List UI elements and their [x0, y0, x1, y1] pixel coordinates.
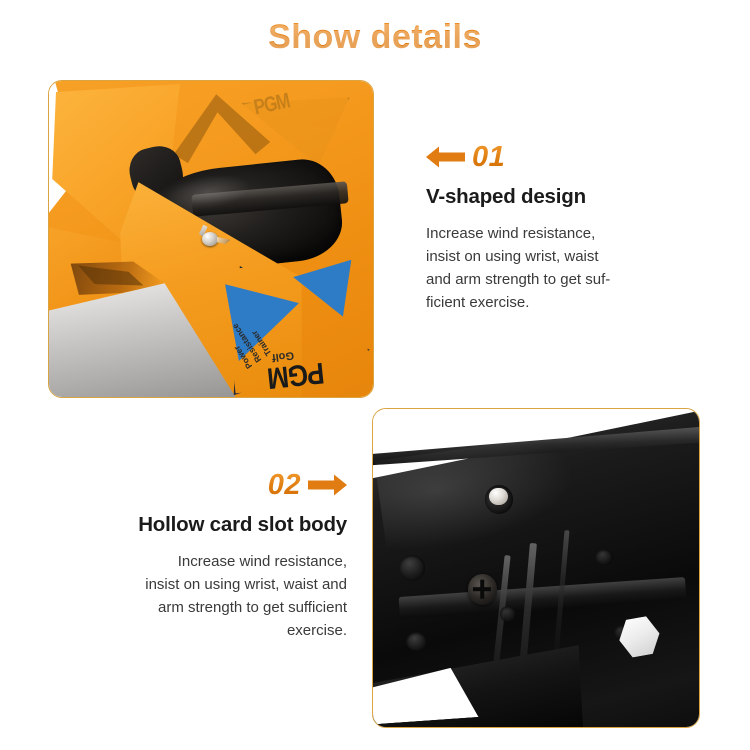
feature-01-body-line-1: Increase wind resistance, [426, 222, 656, 245]
feature-01-heading: V-shaped design [426, 185, 656, 210]
product-photo-v-shaped-design[interactable]: PGM Pow [48, 80, 374, 398]
feature-01-body-line-2: insist on using wrist, waist [426, 245, 656, 268]
pgm-brand-logo: Power Resistance Trainer Golf PGM [211, 251, 373, 397]
recessed-hole [406, 632, 427, 651]
product-photo-hollow-card-slot-body[interactable] [372, 408, 700, 728]
photo-canvas-hollow-body [373, 409, 699, 727]
logo-wordmark: PGM [266, 355, 326, 396]
feature-01-number: 01 [472, 143, 505, 172]
recessed-hole [399, 555, 425, 580]
feature-02-body-line-4: exercise. [62, 619, 347, 642]
feature-block-02: 02 Hollow card slot body Increase wind r… [62, 468, 347, 643]
feature-block-01: 01 V-shaped design Increase wind resista… [426, 140, 656, 315]
page-title: Show details [0, 18, 750, 57]
screw-head [202, 232, 218, 246]
feature-01-body-line-3: and arm strength to get suf- [426, 268, 656, 291]
arrow-right-icon [307, 473, 347, 497]
feature-02-body: Increase wind resistance, insist on usin… [62, 550, 347, 643]
phillips-screw-icon [468, 574, 497, 604]
feature-02-body-line-2: insist on using wrist, waist and [62, 573, 347, 596]
arrow-left-icon [426, 145, 466, 169]
feature-02-body-line-1: Increase wind resistance, [62, 550, 347, 573]
silver-screw-icon [485, 485, 513, 514]
product-detail-page: Show details PGM [0, 0, 750, 750]
feature-02-heading: Hollow card slot body [62, 513, 347, 538]
photo-canvas-v-shape: PGM Pow [49, 81, 373, 397]
feature-01-body-line-4: ficient exercise. [426, 291, 656, 314]
recessed-hole [595, 549, 613, 565]
metal-screw-icon [196, 225, 225, 250]
feature-01-badge-row: 01 [426, 140, 656, 174]
feature-02-badge-row: 02 [62, 468, 347, 502]
feature-02-number: 02 [268, 471, 301, 500]
feature-01-body: Increase wind resistance, insist on usin… [426, 222, 656, 315]
feature-02-body-line-3: arm strength to get sufficient [62, 596, 347, 619]
